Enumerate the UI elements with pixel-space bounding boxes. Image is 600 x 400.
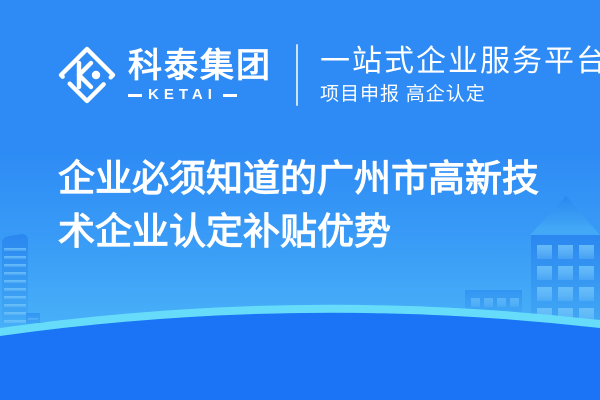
company-name-cn: 科泰集团: [128, 47, 272, 85]
banner-headline: 企业必须知道的广州市高新技术企业认定补贴优势: [58, 152, 568, 258]
ketai-logo-icon[interactable]: [56, 44, 118, 106]
tagline-block: 一站式企业服务平台 项目申报 高企认定: [320, 44, 600, 107]
dash-right-icon: [223, 94, 237, 97]
dash-left-icon: [128, 94, 142, 97]
brand-header: 科泰集团 KETAI 一站式企业服务平台 项目申报 高企认定: [56, 36, 600, 114]
header-vertical-divider: [296, 44, 298, 106]
tagline-main: 一站式企业服务平台: [320, 44, 600, 80]
tagline-sub: 项目申报 高企认定: [320, 83, 600, 107]
promo-banner: 科泰集团 KETAI 一站式企业服务平台 项目申报 高企认定 企业必须知道的广州…: [0, 0, 600, 400]
company-name-en: KETAI: [148, 87, 217, 103]
company-name-en-row: KETAI: [128, 87, 272, 103]
bottom-wave-divider: [0, 280, 600, 400]
logo-wordmark: 科泰集团 KETAI: [128, 47, 272, 103]
